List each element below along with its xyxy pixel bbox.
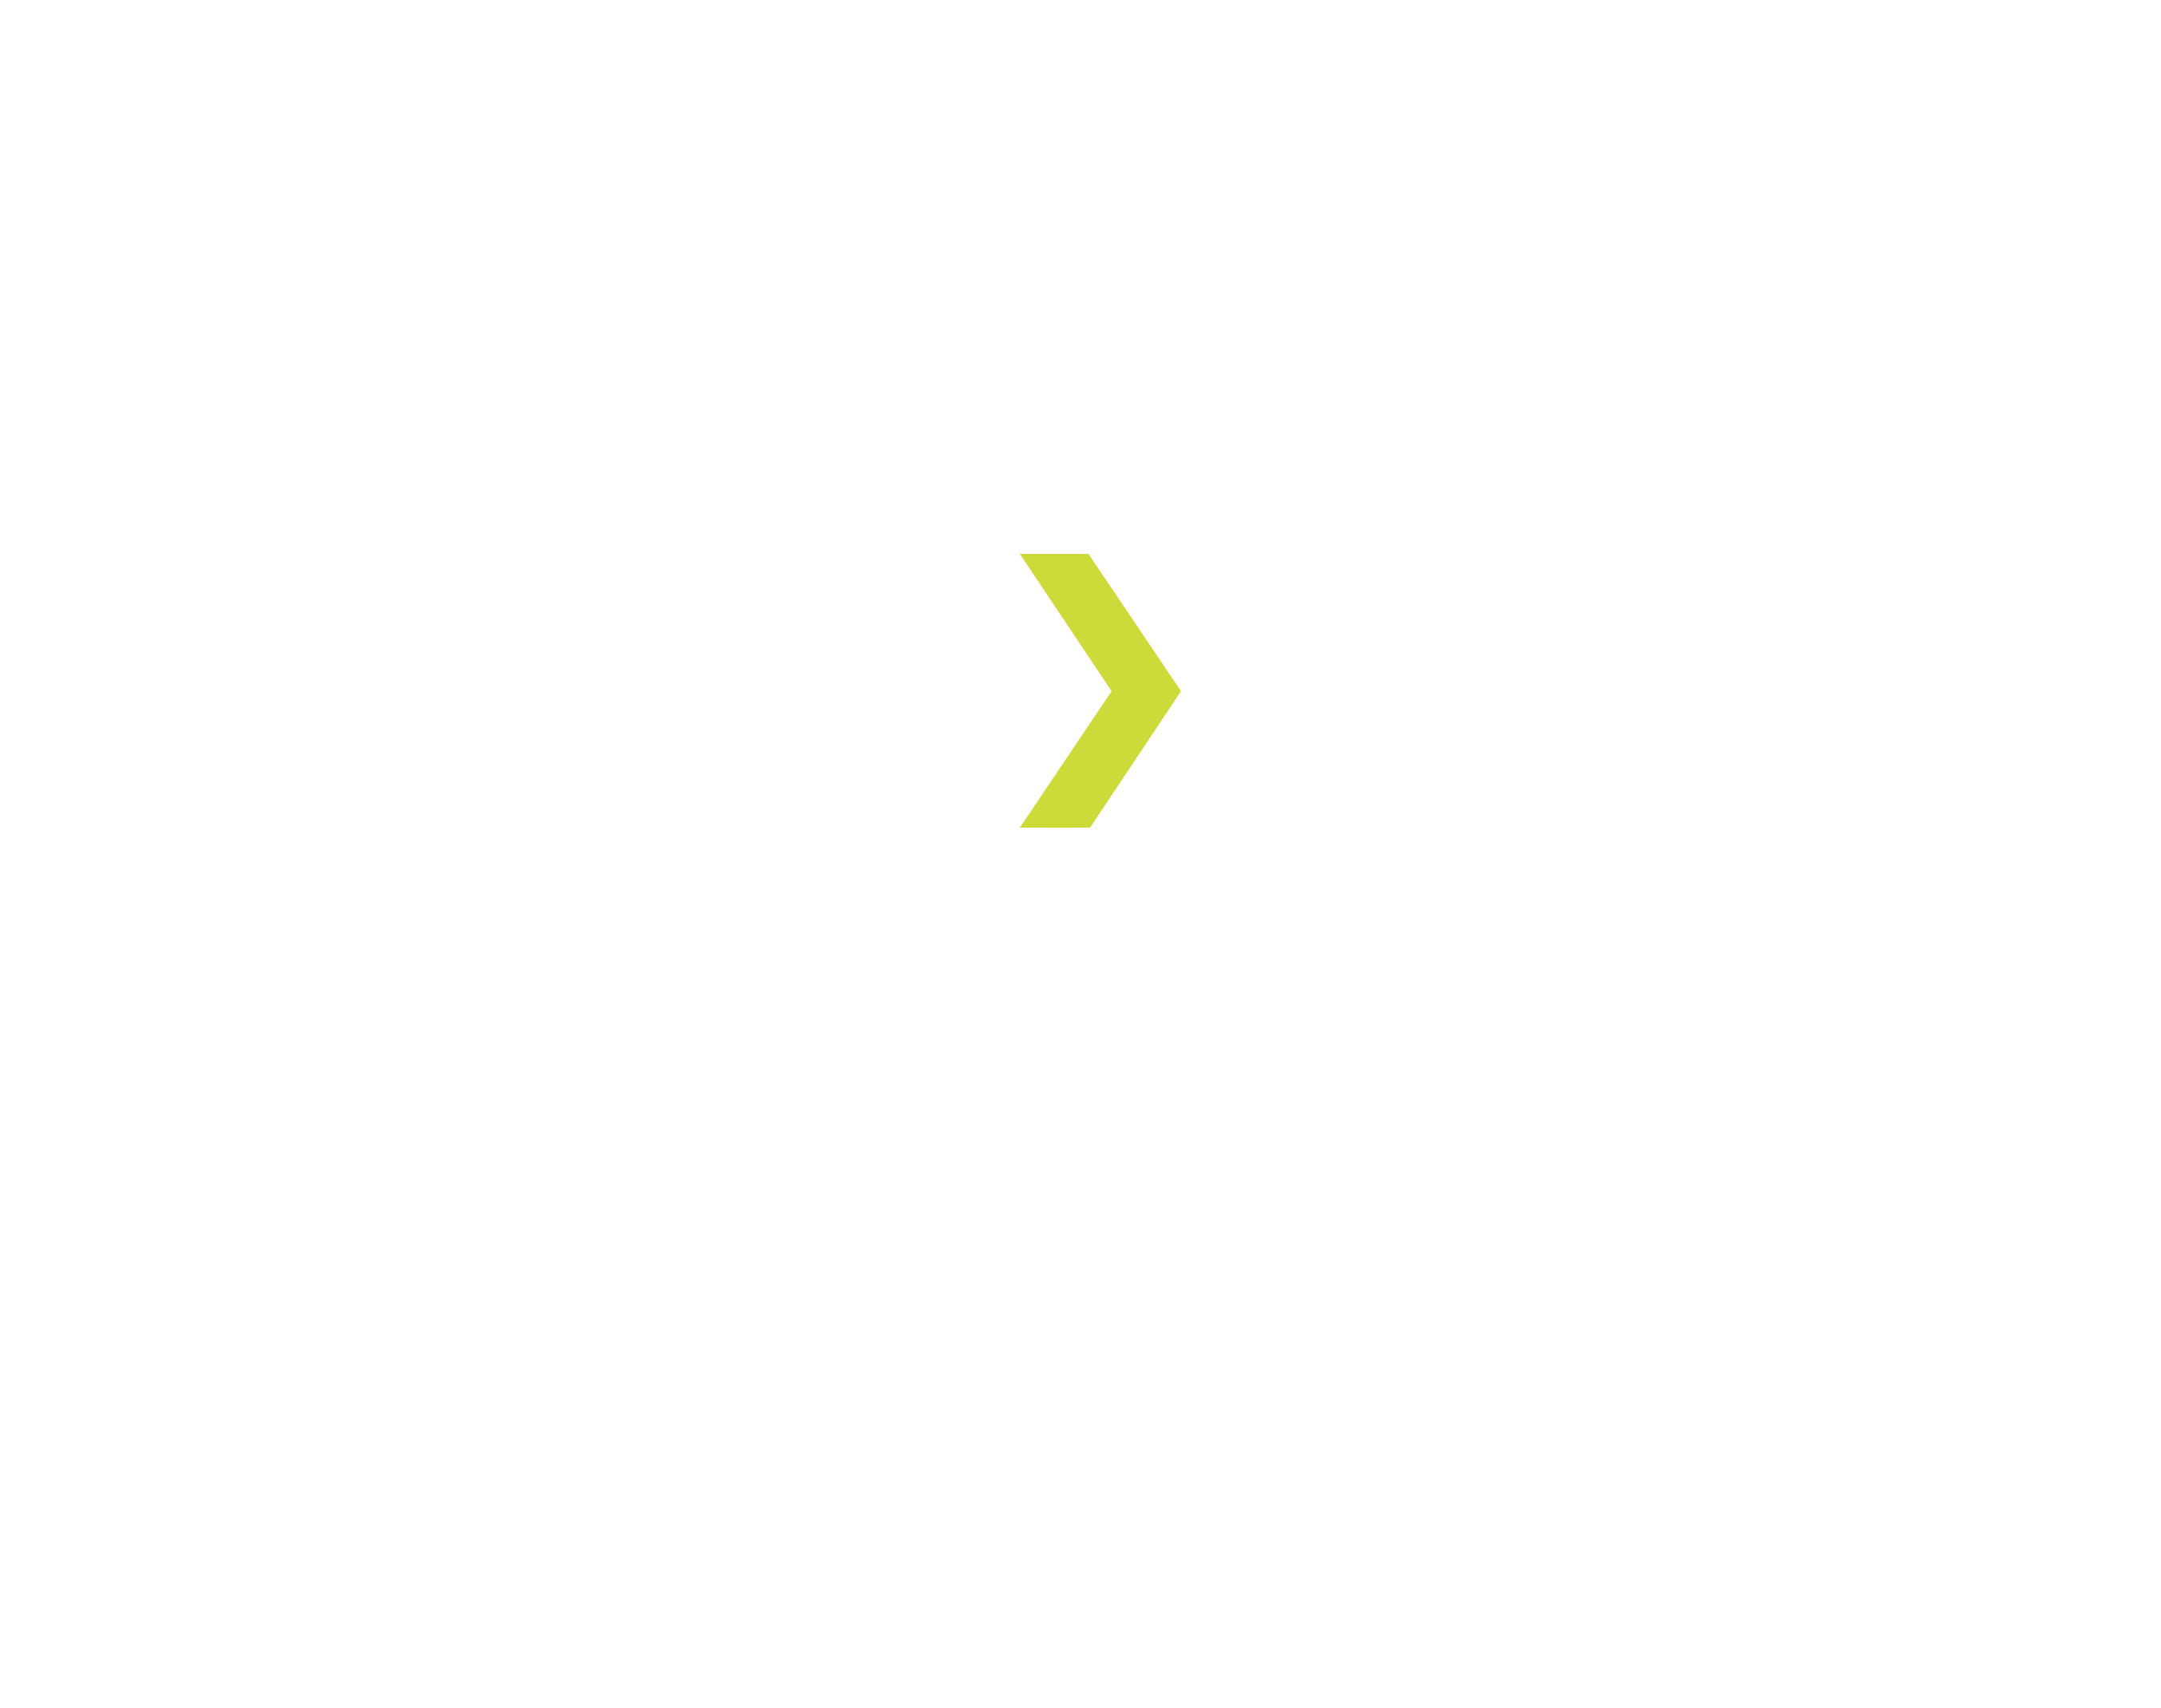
logo-canvas bbox=[0, 0, 2161, 1708]
chevron-right-icon bbox=[0, 0, 2161, 1708]
chevron-right-shape bbox=[1020, 554, 1181, 828]
chevron-right-svg bbox=[0, 0, 2161, 1708]
